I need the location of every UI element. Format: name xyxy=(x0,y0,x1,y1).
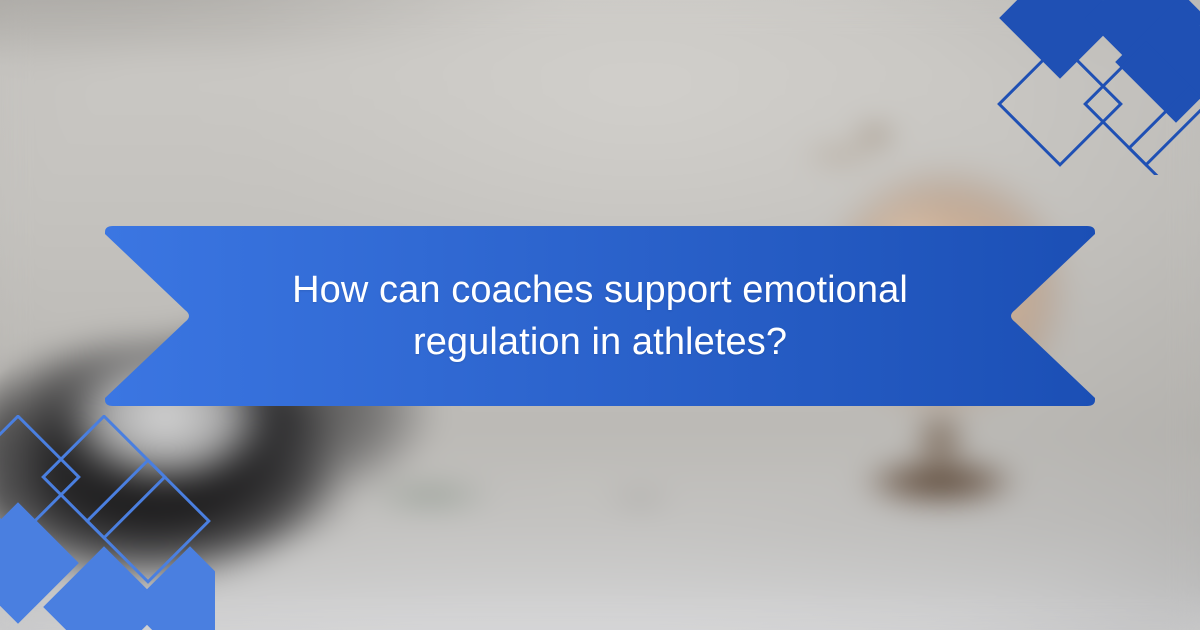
headline-text: How can coaches support emotionalregulat… xyxy=(193,226,1007,406)
share-card: How can coaches support emotionalregulat… xyxy=(0,0,1200,630)
headline-line-2: regulation in athletes? xyxy=(292,316,908,368)
headline-ribbon: How can coaches support emotionalregulat… xyxy=(105,226,1095,406)
headline-line-1: How can coaches support emotional xyxy=(292,264,908,316)
headline-lines: How can coaches support emotionalregulat… xyxy=(292,264,908,369)
